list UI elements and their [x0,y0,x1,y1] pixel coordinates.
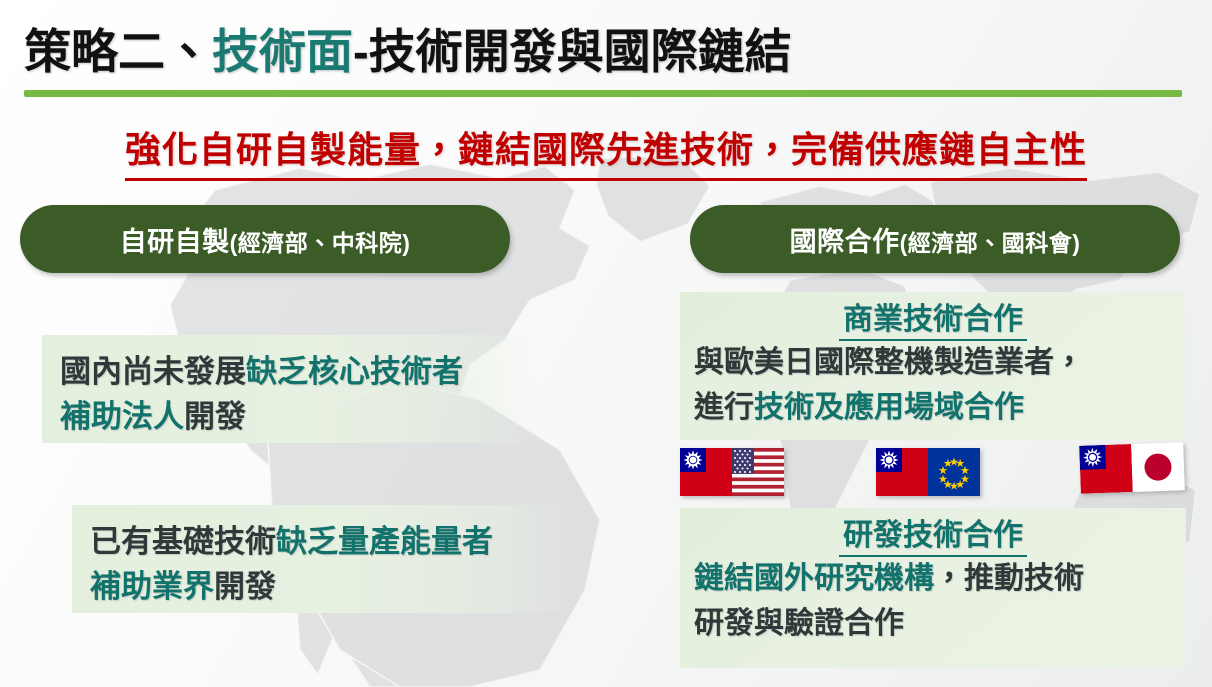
pill-header-international-cooperation: 國際合作(經濟部、國科會) [690,205,1180,273]
pill-left-main: 自研自製 [120,227,230,257]
right-box-2-line-1-teal: 鏈結國外研究機構 [694,562,934,595]
page-title-part2: -技術開發與國際鏈結 [353,25,792,78]
left-box-1-line-2-teal: 補助法人 [60,399,184,434]
left-box-2-line-2-teal: 補助業界 [90,569,214,604]
usa-flag-icon [732,448,784,496]
pill-left-agencies: (經濟部、中科院) [230,230,411,256]
left-box-1-line-1-dark: 國內尚未發展 [60,354,246,389]
right-box-1-heading: 商業技術合作 [694,300,1172,340]
flag-pair-row [680,444,1186,502]
page-title-highlight: 技術面 [212,25,353,78]
left-box-1-line-1: 國內尚未發展缺乏核心技術者 [60,349,516,394]
left-box-1-line-2-dark: 開發 [184,399,246,434]
right-box-2-heading-text: 研發技術合作 [839,519,1027,557]
taiwan-flag-icon [680,448,732,496]
right-box-1-line-2: 進行技術及應用場域合作 [694,385,1172,430]
right-content-box-commercial: 商業技術合作 與歐美日國際整機製造業者， 進行技術及應用場域合作 [680,292,1186,440]
slide-canvas: 策略二、技術面-技術開發與國際鏈結 強化自研自製能量，鏈結國際先進技術，完備供應… [0,0,1212,687]
left-box-2-line-2-dark: 開發 [214,569,276,604]
pill-right-agencies: (經濟部、國科會) [900,230,1081,256]
pill-right-main: 國際合作 [790,227,900,257]
japan-flag-icon [1131,442,1185,492]
taiwan-japan-flag-pair [1079,442,1185,494]
right-box-1-line-1: 與歐美日國際整機製造業者， [694,340,1172,385]
taiwan-usa-flag-pair [680,448,784,496]
title-underline-rule [24,90,1182,97]
right-box-2-line-2: 研發與驗證合作 [694,601,1172,646]
right-box-2-line-1-dark: ，推動技術 [934,562,1084,595]
right-box-1-line-2-teal: 技術及應用場域合作 [754,391,1024,424]
right-box-2-heading: 研發技術合作 [694,516,1172,556]
right-box-2-line-2-dark: 研發與驗證合作 [694,607,904,640]
subtitle-text: 強化自研自製能量，鏈結國際先進技術，完備供應鏈自主性 [125,121,1087,181]
page-title: 策略二、技術面-技術開發與國際鏈結 [24,22,1184,84]
left-content-box-2: 已有基礎技術缺乏量產能量者 補助業界開發 [72,505,564,613]
left-box-2-line-1-teal: 缺乏量產能量者 [276,524,493,559]
left-content-box-1: 國內尚未發展缺乏核心技術者 補助法人開發 [42,335,534,443]
right-box-2-line-1: 鏈結國外研究機構，推動技術 [694,556,1172,601]
taiwan-flag-icon [876,448,928,496]
right-content-box-rnd: 研發技術合作 鏈結國外研究機構，推動技術 研發與驗證合作 [680,508,1186,668]
pill-left-label: 自研自製(經濟部、中科院) [120,220,411,259]
pill-header-self-development: 自研自製(經濟部、中科院) [20,205,510,273]
european-union-flag-icon [928,448,980,496]
taiwan-eu-flag-pair [876,448,980,496]
left-box-2-line-2: 補助業界開發 [90,564,546,609]
subtitle: 強化自研自製能量，鏈結國際先進技術，完備供應鏈自主性 [0,121,1212,181]
left-box-1-line-2: 補助法人開發 [60,394,516,439]
taiwan-flag-icon [1079,444,1133,494]
page-title-part1: 策略二、 [24,25,212,78]
left-box-2-line-1: 已有基礎技術缺乏量產能量者 [90,519,546,564]
pill-right-label: 國際合作(經濟部、國科會) [790,220,1081,259]
right-box-1-line-1-dark: 與歐美日國際整機製造業者， [694,346,1084,379]
left-box-1-line-1-teal: 缺乏核心技術者 [246,354,463,389]
right-box-1-line-2-dark: 進行 [694,391,754,424]
right-box-1-heading-text: 商業技術合作 [839,303,1027,341]
left-box-2-line-1-dark: 已有基礎技術 [90,524,276,559]
